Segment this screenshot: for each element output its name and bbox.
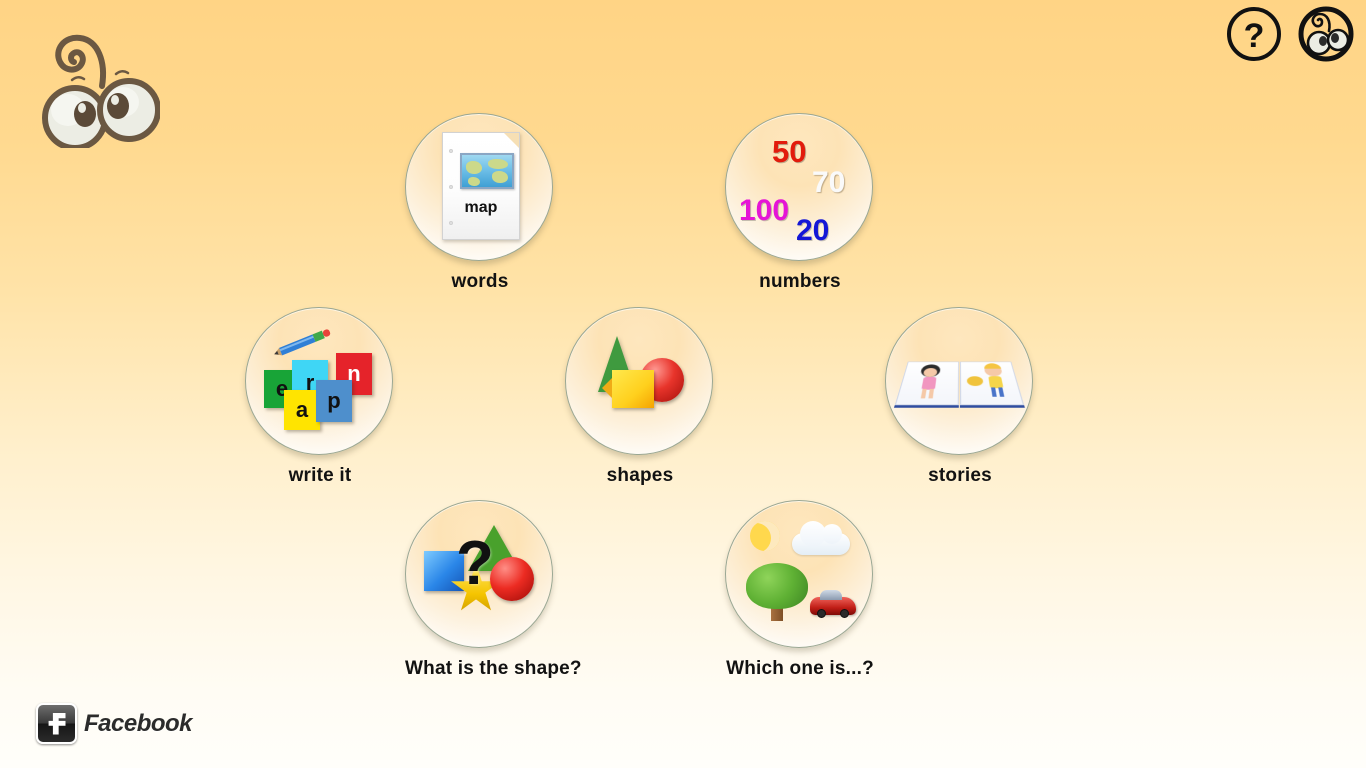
tile-shapes-label: shapes (565, 465, 715, 487)
tile-whichone-circle[interactable] (725, 500, 873, 648)
tile-whichone[interactable]: Which one is...? (725, 500, 875, 680)
card-hole (449, 221, 453, 225)
scene-quiz-icon (726, 501, 872, 647)
letter-tile-p: p (316, 380, 352, 422)
mascot-logo-icon (28, 18, 160, 148)
open-book-icon (886, 308, 1032, 454)
number-100: 100 (739, 194, 789, 228)
solid-shapes-icon (566, 308, 712, 454)
question-mark-icon: ? (456, 533, 494, 595)
tile-whatshape-label: What is the shape? (405, 658, 555, 680)
tile-stories[interactable]: stories (885, 307, 1035, 487)
shape-quiz-icon: ? (406, 501, 552, 647)
facebook-label: Facebook (84, 710, 192, 738)
open-book (895, 362, 1026, 406)
letter-char: p (327, 390, 340, 412)
question-mark-icon: ? (1224, 4, 1284, 64)
tile-words[interactable]: map words (405, 113, 555, 293)
letter-char: a (296, 399, 308, 421)
facebook-f-glyph (48, 713, 66, 735)
book-page-right (960, 362, 1024, 406)
facebook-icon (36, 703, 77, 744)
tile-whichone-label: Which one is...? (725, 658, 875, 680)
flashcard-map-icon: map (406, 114, 552, 260)
tile-whatshape[interactable]: ? What is the shape? (405, 500, 555, 680)
tree-crown (746, 563, 808, 609)
tile-writeit[interactable]: e r n a p write it (245, 307, 395, 487)
letter-tile-a: a (284, 390, 320, 430)
sphere-shape (490, 557, 534, 601)
tile-numbers[interactable]: 50 70 100 20 numbers (725, 113, 875, 293)
mascot-icon (1296, 4, 1356, 64)
tile-writeit-label: write it (245, 465, 395, 487)
app-root: ? (0, 0, 1366, 768)
numbers-icon: 50 70 100 20 (726, 114, 872, 260)
facebook-button[interactable]: Facebook (36, 703, 192, 744)
card-hole (449, 185, 453, 189)
number-20: 20 (796, 214, 829, 248)
help-button[interactable]: ? (1224, 4, 1284, 64)
tile-shapes-circle[interactable] (565, 307, 713, 455)
book-illustration-right (961, 362, 1026, 406)
car-icon (810, 597, 856, 615)
tile-numbers-circle[interactable]: 50 70 100 20 (725, 113, 873, 261)
book-page-left (895, 362, 959, 406)
number-70: 70 (812, 166, 845, 200)
tile-numbers-label: numbers (725, 271, 875, 293)
world-map-picture (460, 153, 514, 189)
mascot-button[interactable] (1296, 4, 1356, 64)
number-50: 50 (772, 134, 806, 170)
cloud-icon (792, 533, 850, 555)
moon-icon (750, 521, 780, 551)
tile-whatshape-circle[interactable]: ? (405, 500, 553, 648)
mascot-logo (28, 18, 160, 148)
card-word: map (443, 199, 519, 217)
header-buttons: ? (1224, 4, 1356, 64)
help-glyph: ? (1244, 17, 1265, 55)
tile-stories-circle[interactable] (885, 307, 1033, 455)
cube-shape (612, 370, 654, 408)
book-illustration-left (896, 362, 960, 406)
card-hole (449, 149, 453, 153)
flashcard: map (442, 132, 520, 240)
tile-shapes[interactable]: shapes (565, 307, 715, 487)
tile-words-label: words (405, 271, 555, 293)
letter-tiles-pencil-icon: e r n a p (246, 308, 392, 454)
tile-stories-label: stories (885, 465, 1035, 487)
tile-writeit-circle[interactable]: e r n a p (245, 307, 393, 455)
card-fold-corner (504, 133, 519, 148)
pencil-icon (272, 327, 331, 359)
tile-words-circle[interactable]: map (405, 113, 553, 261)
